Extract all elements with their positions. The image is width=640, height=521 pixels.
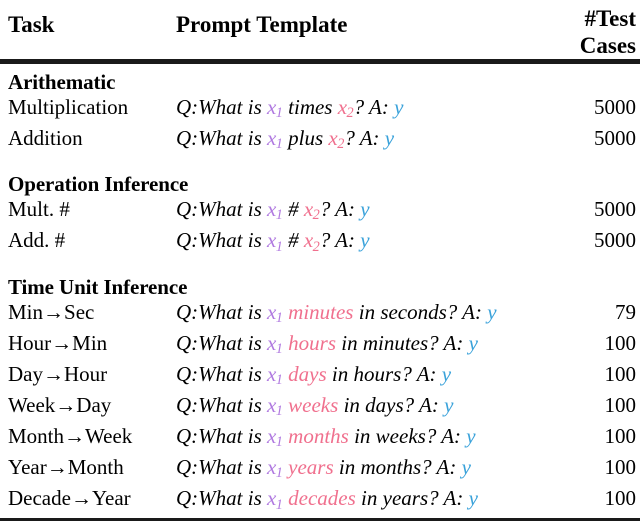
task-name-cell: Add. # <box>0 228 168 259</box>
task-target-unit: Sec <box>64 300 94 324</box>
variable-y: y <box>487 300 496 324</box>
prompt-template-cell: Q:What is x1 weeks in days? A: y <box>168 393 556 424</box>
variable-x2: x2 <box>338 95 354 119</box>
time-unit-token: days <box>283 362 327 386</box>
task-name-cell: Decade→Year <box>0 486 168 519</box>
variable-x1: x1 <box>267 393 283 417</box>
task-name-cell: Hour→Min <box>0 331 168 362</box>
table-row: Decade→YearQ:What is x1 decades in years… <box>0 486 640 519</box>
section-heading: Operation Inference <box>0 167 640 197</box>
task-name-cell: Mult. # <box>0 197 168 228</box>
time-unit-token: months <box>283 424 349 448</box>
variable-x2: x2 <box>328 126 344 150</box>
table-row: Month→WeekQ:What is x1 months in weeks? … <box>0 424 640 455</box>
prompt-prefix: Q:What is <box>176 228 267 252</box>
prompt-prefix: Q:What is <box>176 455 267 479</box>
prompt-template-cell: Q:What is x1 days in hours? A: y <box>168 362 556 393</box>
variable-x1: x1 <box>267 95 283 119</box>
variable-x1-subscript: 1 <box>276 341 283 357</box>
prompt-suffix: ? A: <box>344 126 384 150</box>
table-body: ArithematicMultiplicationQ:What is x1 ti… <box>0 64 640 519</box>
variable-x1: x1 <box>267 126 283 150</box>
prompt-prefix: Q:What is <box>176 95 267 119</box>
table-row: Day→HourQ:What is x1 days in hours? A: y… <box>0 362 640 393</box>
variable-x2: x2 <box>304 228 320 252</box>
variable-y: y <box>469 486 478 510</box>
prompt-prefix: Q:What is <box>176 126 267 150</box>
arrow-right-icon: → <box>43 300 64 324</box>
variable-x1-subscript: 1 <box>276 497 283 513</box>
prompt-prefix: Q:What is <box>176 331 267 355</box>
table-row: Min→SecQ:What is x1 minutes in seconds? … <box>0 300 640 331</box>
task-name-cell: Min→Sec <box>0 300 168 331</box>
variable-y: y <box>360 197 369 221</box>
prompt-template-cell: Q:What is x1 # x2? A: y <box>168 197 556 228</box>
prompt-operator: times <box>283 95 338 119</box>
column-header-test-cases-line1: #Test <box>556 5 636 32</box>
test-case-count-cell: 100 <box>556 486 640 519</box>
test-case-count-cell: 5000 <box>556 95 640 126</box>
prompt-prefix: Q:What is <box>176 362 267 386</box>
variable-x1-subscript: 1 <box>276 136 283 152</box>
prompt-suffix: in seconds? A: <box>353 300 487 324</box>
task-name-cell: Addition <box>0 126 168 157</box>
section-spacer <box>0 260 640 270</box>
prompt-template-cell: Q:What is x1 minutes in seconds? A: y <box>168 300 556 331</box>
variable-x1-subscript: 1 <box>276 239 283 255</box>
arrow-right-icon: → <box>64 424 85 448</box>
variable-x1: x1 <box>267 486 283 510</box>
task-label: Multiplication <box>8 95 128 119</box>
prompt-suffix: in hours? A: <box>327 362 442 386</box>
task-label: Mult. # <box>8 197 70 221</box>
task-target-unit: Min <box>72 331 107 355</box>
task-target-unit: Year <box>92 486 131 510</box>
variable-x2-subscript: 2 <box>313 239 320 255</box>
arrow-right-icon: → <box>47 455 68 479</box>
table-row: MultiplicationQ:What is x1 times x2? A: … <box>0 95 640 126</box>
table-row: AdditionQ:What is x1 plus x2? A: y5000 <box>0 126 640 157</box>
section-heading-row: Arithematic <box>0 64 640 95</box>
task-label: Add. # <box>8 228 65 252</box>
task-target-unit: Month <box>68 455 124 479</box>
test-case-count-cell: 5000 <box>556 126 640 157</box>
variable-y: y <box>469 331 478 355</box>
prompt-suffix: ? A: <box>320 228 360 252</box>
arrow-right-icon: → <box>51 331 72 355</box>
prompt-prefix: Q:What is <box>176 424 267 448</box>
prompt-template-cell: Q:What is x1 years in months? A: y <box>168 455 556 486</box>
test-case-count-cell: 100 <box>556 331 640 362</box>
variable-x1-subscript: 1 <box>276 105 283 121</box>
variable-y: y <box>442 362 451 386</box>
section-spacer <box>0 157 640 167</box>
prompt-prefix: Q:What is <box>176 486 267 510</box>
section-heading: Time Unit Inference <box>0 270 640 300</box>
variable-x1-subscript: 1 <box>276 434 283 450</box>
table-container: Task Prompt Template #Test Cases Arithem… <box>0 0 640 496</box>
task-target-unit: Day <box>76 393 111 417</box>
table-header: Task Prompt Template #Test Cases <box>0 0 640 61</box>
test-case-count-cell: 5000 <box>556 197 640 228</box>
prompt-prefix: Q:What is <box>176 197 267 221</box>
arrow-right-icon: → <box>55 393 76 417</box>
variable-y: y <box>466 424 475 448</box>
prompt-suffix: ? A: <box>354 95 394 119</box>
prompt-prefix: Q:What is <box>176 300 267 324</box>
table-row: Week→DayQ:What is x1 weeks in days? A: y… <box>0 393 640 424</box>
table-row: Add. #Q:What is x1 # x2? A: y5000 <box>0 228 640 259</box>
task-target-unit: Hour <box>64 362 107 386</box>
column-header-task: Task <box>0 0 168 61</box>
table-row: Hour→MinQ:What is x1 hours in minutes? A… <box>0 331 640 362</box>
prompt-template-cell: Q:What is x1 times x2? A: y <box>168 95 556 126</box>
task-source-unit: Hour <box>8 331 51 355</box>
variable-x2: x2 <box>304 197 320 221</box>
time-unit-token: hours <box>283 331 336 355</box>
task-name-cell: Week→Day <box>0 393 168 424</box>
table-bottom-rule <box>0 519 640 521</box>
arrow-right-icon: → <box>43 362 64 386</box>
table-row: Mult. #Q:What is x1 # x2? A: y5000 <box>0 197 640 228</box>
prompt-operator: # <box>283 228 304 252</box>
variable-y: y <box>394 95 403 119</box>
variable-y: y <box>360 228 369 252</box>
variable-x1-subscript: 1 <box>276 310 283 326</box>
variable-x1-subscript: 1 <box>276 403 283 419</box>
prompt-operator: plus <box>283 126 329 150</box>
prompt-suffix: in years? A: <box>356 486 469 510</box>
variable-y: y <box>462 455 471 479</box>
variable-x1: x1 <box>267 197 283 221</box>
time-unit-token: years <box>283 455 334 479</box>
prompt-template-cell: Q:What is x1 # x2? A: y <box>168 228 556 259</box>
task-source-unit: Month <box>8 424 64 448</box>
time-unit-token: minutes <box>283 300 354 324</box>
task-name-cell: Month→Week <box>0 424 168 455</box>
table-row: Year→MonthQ:What is x1 years in months? … <box>0 455 640 486</box>
task-prompt-template-table: Task Prompt Template #Test Cases Arithem… <box>0 0 640 521</box>
task-source-unit: Week <box>8 393 55 417</box>
variable-x1: x1 <box>267 228 283 252</box>
test-case-count-cell: 100 <box>556 455 640 486</box>
task-name-cell: Multiplication <box>0 95 168 126</box>
prompt-suffix: in weeks? A: <box>349 424 466 448</box>
task-label: Addition <box>8 126 83 150</box>
test-case-count-cell: 100 <box>556 362 640 393</box>
prompt-template-cell: Q:What is x1 months in weeks? A: y <box>168 424 556 455</box>
variable-y: y <box>444 393 453 417</box>
column-header-test-cases: #Test Cases <box>556 0 640 61</box>
prompt-template-cell: Q:What is x1 hours in minutes? A: y <box>168 331 556 362</box>
test-case-count-cell: 79 <box>556 300 640 331</box>
column-header-prompt-template: Prompt Template <box>168 0 556 61</box>
section-heading-row: Operation Inference <box>0 167 640 197</box>
column-header-test-cases-line2: Cases <box>556 32 636 59</box>
variable-x1: x1 <box>267 331 283 355</box>
section-heading: Arithematic <box>0 64 640 95</box>
header-row: Task Prompt Template #Test Cases <box>0 0 640 61</box>
prompt-suffix: in minutes? A: <box>336 331 469 355</box>
task-name-cell: Day→Hour <box>0 362 168 393</box>
variable-x1-subscript: 1 <box>276 207 283 223</box>
time-unit-token: decades <box>283 486 356 510</box>
prompt-suffix: ? A: <box>320 197 360 221</box>
arrow-right-icon: → <box>71 486 92 510</box>
task-source-unit: Year <box>8 455 47 479</box>
prompt-template-cell: Q:What is x1 plus x2? A: y <box>168 126 556 157</box>
prompt-prefix: Q:What is <box>176 393 267 417</box>
task-source-unit: Min <box>8 300 43 324</box>
task-source-unit: Decade <box>8 486 71 510</box>
time-unit-token: weeks <box>283 393 338 417</box>
test-case-count-cell: 100 <box>556 424 640 455</box>
variable-x1-subscript: 1 <box>276 465 283 481</box>
test-case-count-cell: 100 <box>556 393 640 424</box>
variable-x1: x1 <box>267 424 283 448</box>
section-heading-row: Time Unit Inference <box>0 270 640 300</box>
task-name-cell: Year→Month <box>0 455 168 486</box>
task-target-unit: Week <box>85 424 132 448</box>
test-case-count-cell: 5000 <box>556 228 640 259</box>
prompt-suffix: in months? A: <box>334 455 462 479</box>
variable-y: y <box>385 126 394 150</box>
variable-x1: x1 <box>267 455 283 479</box>
variable-x2-subscript: 2 <box>347 105 354 121</box>
variable-x1: x1 <box>267 362 283 386</box>
prompt-template-cell: Q:What is x1 decades in years? A: y <box>168 486 556 519</box>
variable-x1: x1 <box>267 300 283 324</box>
task-source-unit: Day <box>8 362 43 386</box>
variable-x1-subscript: 1 <box>276 372 283 388</box>
prompt-operator: # <box>283 197 304 221</box>
variable-x2-subscript: 2 <box>313 207 320 223</box>
prompt-suffix: in days? A: <box>338 393 444 417</box>
